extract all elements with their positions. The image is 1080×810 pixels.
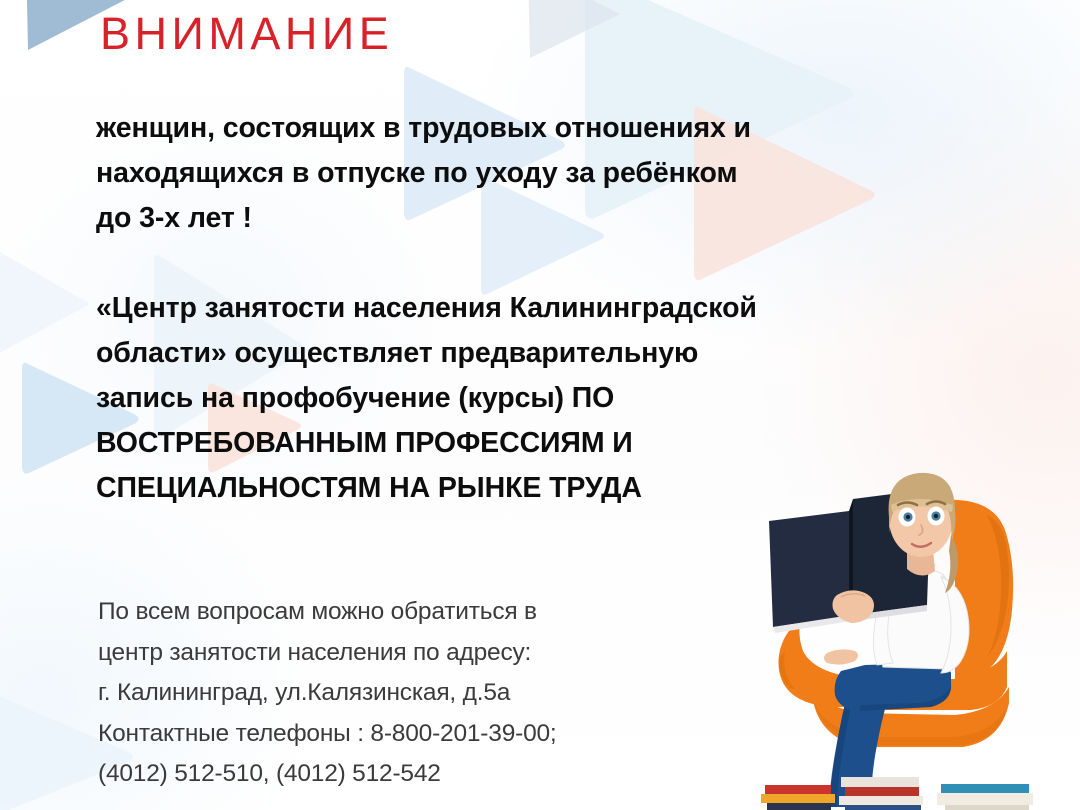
paragraph-1-line-3: до 3-х лет ! bbox=[96, 196, 988, 241]
contact-phone-primary: Контактные телефоны : 8-800-201-39-00; bbox=[98, 714, 798, 755]
paragraph-2-line-3: запись на профобучение (курсы) ПО bbox=[96, 376, 988, 421]
paragraph-target-audience: женщин, состоящих в трудовых отношениях … bbox=[96, 106, 988, 241]
paragraph-2-line-1: «Центр занятости населения Калининградск… bbox=[96, 286, 988, 331]
contact-line-2: центр занятости населения по адресу: bbox=[98, 633, 798, 674]
contact-block: По всем вопросам можно обратиться в цент… bbox=[98, 592, 798, 795]
contact-phone-secondary: (4012) 512-510, (4012) 512-542 bbox=[98, 754, 798, 795]
paragraph-2-line-4: ВОСТРЕБОВАННЫМ ПРОФЕССИЯМ И bbox=[96, 421, 988, 466]
paragraph-2-line-5: СПЕЦИАЛЬНОСТЯМ НА РЫНКЕ ТРУДА bbox=[96, 466, 988, 511]
paragraph-1-line-2: находящихся в отпуске по уходу за ребёнк… bbox=[96, 151, 988, 196]
paragraph-service-offer: «Центр занятости населения Калининградск… bbox=[96, 286, 988, 511]
paragraph-2-line-2: области» осуществляет предварительную bbox=[96, 331, 988, 376]
poster-canvas: ВНИМАНИЕ женщин, состоящих в трудовых от… bbox=[0, 0, 1080, 810]
paragraph-1-line-1: женщин, состоящих в трудовых отношениях … bbox=[96, 106, 988, 151]
poster-content: ВНИМАНИЕ женщин, состоящих в трудовых от… bbox=[0, 0, 1080, 810]
contact-line-1: По всем вопросам можно обратиться в bbox=[98, 592, 798, 633]
page-title: ВНИМАНИЕ bbox=[100, 8, 393, 60]
contact-address: г. Калининград, ул.Калязинская, д.5а bbox=[98, 673, 798, 714]
